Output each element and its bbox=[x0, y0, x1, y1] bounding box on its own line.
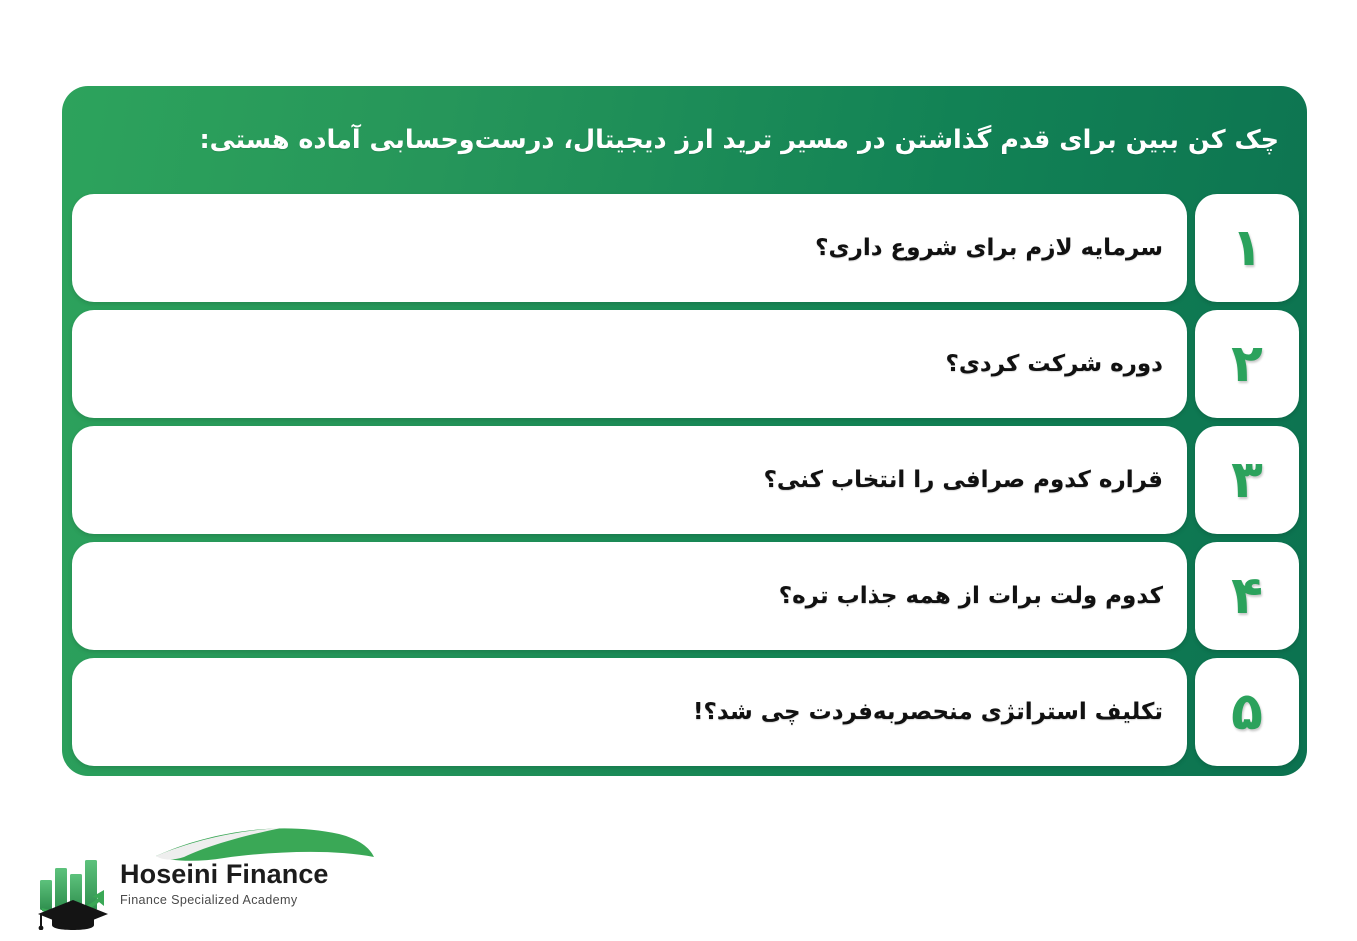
step-number-badge: ۴ bbox=[1195, 542, 1299, 650]
brand-logo: Hoseini Finance Finance Specialized Acad… bbox=[32, 826, 332, 932]
question-card[interactable]: تکلیف استراتژی منحصربه‌فردت چی شد؟! bbox=[72, 658, 1187, 766]
logo-tagline: Finance Specialized Academy bbox=[120, 893, 350, 907]
logo-wordmark: Hoseini Finance Finance Specialized Acad… bbox=[120, 860, 350, 907]
checklist-row[interactable]: ۳ قراره کدوم صرافی را انتخاب کنی؟ bbox=[72, 426, 1299, 534]
checklist-rows: ۱ سرمایه لازم برای شروع داری؟ ۲ دوره شرک… bbox=[72, 194, 1299, 766]
question-card[interactable]: قراره کدوم صرافی را انتخاب کنی؟ bbox=[72, 426, 1187, 534]
checklist-panel: چک کن ببین برای قدم گذاشتن در مسیر ترید … bbox=[62, 86, 1307, 776]
logo-name: Hoseini Finance bbox=[120, 860, 350, 888]
question-card[interactable]: سرمایه لازم برای شروع داری؟ bbox=[72, 194, 1187, 302]
checklist-row[interactable]: ۴ کدوم ولت برات از همه جذاب تره؟ bbox=[72, 542, 1299, 650]
step-number: ۵ bbox=[1231, 686, 1263, 738]
question-text: تکلیف استراتژی منحصربه‌فردت چی شد؟! bbox=[693, 696, 1163, 728]
step-number: ۴ bbox=[1231, 570, 1263, 622]
question-card[interactable]: دوره شرکت کردی؟ bbox=[72, 310, 1187, 418]
infographic-page: چک کن ببین برای قدم گذاشتن در مسیر ترید … bbox=[0, 0, 1357, 941]
step-number: ۳ bbox=[1231, 454, 1263, 506]
checklist-row[interactable]: ۲ دوره شرکت کردی؟ bbox=[72, 310, 1299, 418]
page-title: چک کن ببین برای قدم گذاشتن در مسیر ترید … bbox=[90, 123, 1279, 157]
question-card[interactable]: کدوم ولت برات از همه جذاب تره؟ bbox=[72, 542, 1187, 650]
step-number-badge: ۲ bbox=[1195, 310, 1299, 418]
panel-header: چک کن ببین برای قدم گذاشتن در مسیر ترید … bbox=[62, 86, 1307, 194]
checklist-row[interactable]: ۱ سرمایه لازم برای شروع داری؟ bbox=[72, 194, 1299, 302]
step-number: ۲ bbox=[1231, 338, 1263, 390]
question-text: قراره کدوم صرافی را انتخاب کنی؟ bbox=[764, 464, 1163, 496]
step-number-badge: ۳ bbox=[1195, 426, 1299, 534]
question-text: دوره شرکت کردی؟ bbox=[946, 348, 1164, 380]
question-text: کدوم ولت برات از همه جذاب تره؟ bbox=[779, 580, 1163, 612]
graduation-cap-bar-chart-icon bbox=[34, 854, 112, 930]
question-text: سرمایه لازم برای شروع داری؟ bbox=[815, 232, 1163, 264]
step-number: ۱ bbox=[1231, 222, 1263, 274]
step-number-badge: ۱ bbox=[1195, 194, 1299, 302]
checklist-row[interactable]: ۵ تکلیف استراتژی منحصربه‌فردت چی شد؟! bbox=[72, 658, 1299, 766]
step-number-badge: ۵ bbox=[1195, 658, 1299, 766]
